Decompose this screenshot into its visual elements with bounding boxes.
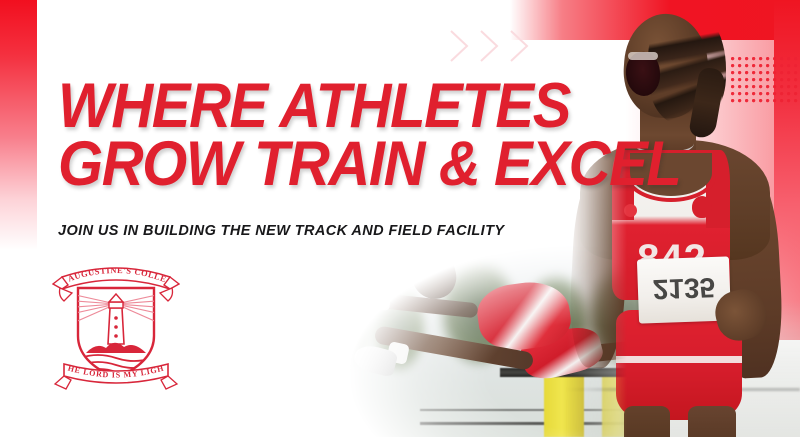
hero-banner: 842 2135 WHERE ATHLETES GROW TRAIN & EXC… [0, 0, 800, 437]
sprinter-singlet-crest [692, 196, 712, 218]
chevron-arrows-icon [449, 29, 537, 63]
sprinter-race-bib-number: 2135 [637, 270, 730, 305]
page-title: WHERE ATHLETES GROW TRAIN & EXCEL [58, 78, 610, 194]
left-red-gradient-band [0, 0, 37, 250]
sprinter-right-leg [688, 406, 736, 437]
halftone-dot-grid [731, 57, 800, 104]
sprinter-left-leg [624, 406, 670, 437]
headline-line-2: GROW TRAIN & EXCEL [58, 136, 610, 194]
hurdler-wristband [375, 294, 390, 310]
hurdler-lead-arm [356, 291, 479, 319]
hurdler-head [408, 249, 461, 303]
sprinter-shorts-stripe [616, 356, 742, 363]
subheading: JOIN US IN BUILDING THE NEW TRACK AND FI… [58, 223, 504, 239]
college-crest-logo: ST. AUGUSTINE'S COLLEGE [52, 258, 180, 398]
headline-line-1: WHERE ATHLETES [58, 78, 610, 136]
sprinter-teeth [628, 52, 658, 60]
crest-shield [62, 288, 170, 378]
crest-lighthouse [108, 294, 124, 344]
sprinter-singlet-logo [624, 204, 637, 217]
